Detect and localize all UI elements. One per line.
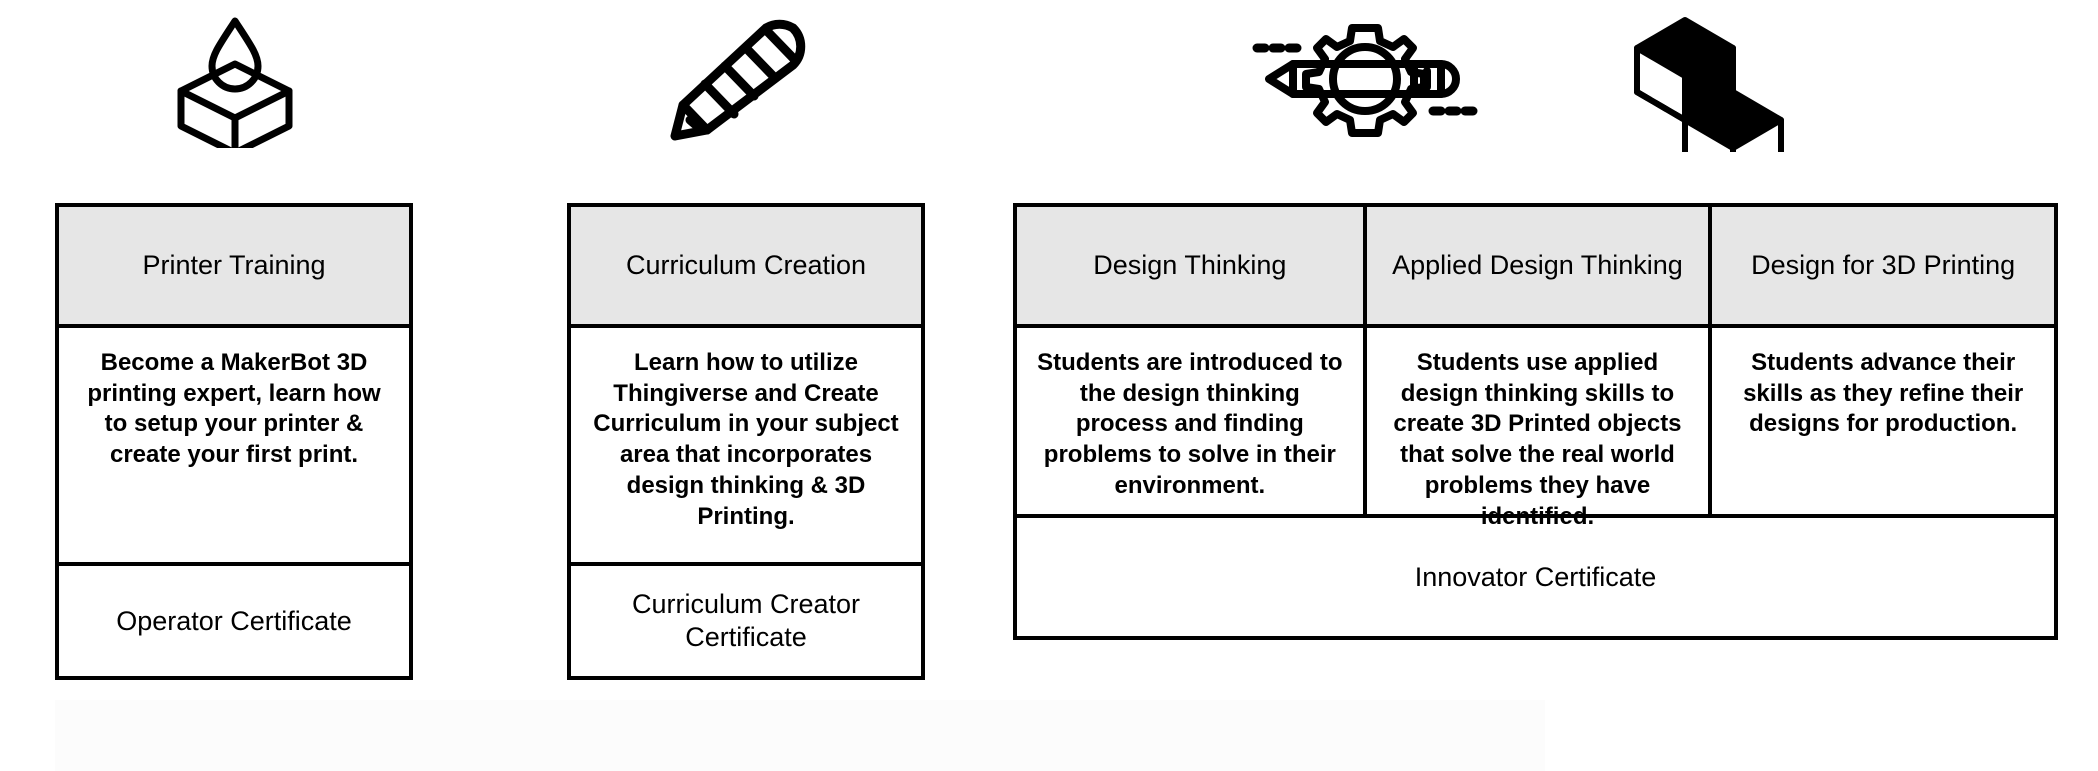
- isometric-blocks-icon: [1605, 4, 1795, 152]
- course-title: Printer Training: [59, 207, 409, 328]
- diagram-canvas: Printer Training Become a MakerBot 3D pr…: [0, 0, 2098, 771]
- course-description: Learn how to utilize Thingiverse and Cre…: [571, 328, 921, 562]
- course-title: Applied Design Thinking: [1367, 207, 1709, 328]
- track-column[interactable]: Design Thinking Students are introduced …: [1017, 207, 1363, 514]
- track-column[interactable]: Applied Design Thinking Students use app…: [1363, 207, 1709, 514]
- course-title: Curriculum Creation: [571, 207, 921, 328]
- certificate-label: Curriculum Creator Certificate: [571, 562, 921, 676]
- gear-pencil-prototype-icon: [1245, 14, 1485, 144]
- track-group-curriculum-creation: Curriculum Creation Learn how to utilize…: [567, 203, 925, 680]
- group-columns: Curriculum Creation Learn how to utilize…: [571, 207, 921, 562]
- track-column[interactable]: Curriculum Creation Learn how to utilize…: [571, 207, 921, 562]
- track-column[interactable]: Design for 3D Printing Students advance …: [1708, 207, 2054, 514]
- course-description: Students advance their skills as they re…: [1712, 328, 2054, 514]
- bottom-band: [55, 700, 1545, 771]
- group-columns: Design Thinking Students are introduced …: [1017, 207, 2054, 514]
- printer-cube-droplet-icon: [150, 8, 320, 148]
- pencil-icon: [645, 8, 835, 148]
- course-description: Students are introduced to the design th…: [1017, 328, 1363, 514]
- certificate-label: Operator Certificate: [59, 562, 409, 676]
- track-column[interactable]: Printer Training Become a MakerBot 3D pr…: [59, 207, 409, 562]
- track-group-innovator: Design Thinking Students are introduced …: [1013, 203, 2058, 640]
- group-columns: Printer Training Become a MakerBot 3D pr…: [59, 207, 409, 562]
- course-title: Design for 3D Printing: [1712, 207, 2054, 328]
- course-description: Students use applied design thinking ski…: [1367, 328, 1709, 514]
- course-description: Become a MakerBot 3D printing expert, le…: [59, 328, 409, 562]
- course-title: Design Thinking: [1017, 207, 1363, 328]
- track-group-printer-training: Printer Training Become a MakerBot 3D pr…: [55, 203, 413, 680]
